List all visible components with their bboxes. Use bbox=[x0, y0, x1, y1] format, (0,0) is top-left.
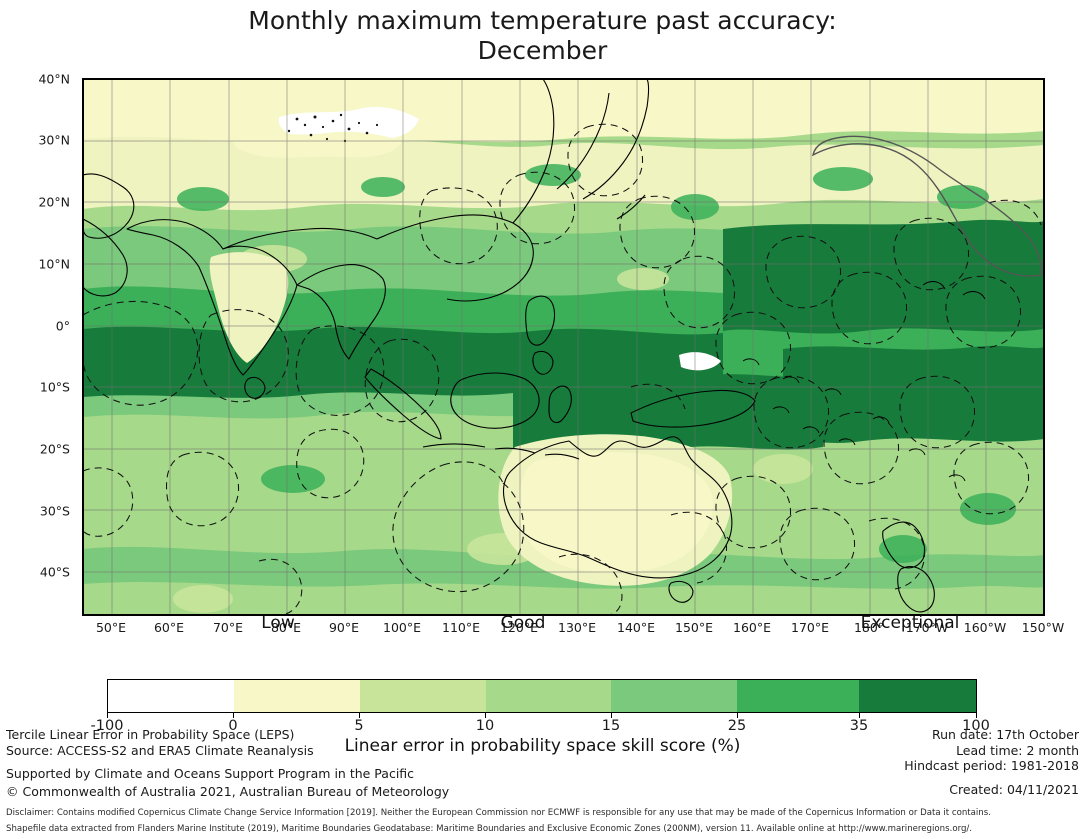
title-line-1: Monthly maximum temperature past accurac… bbox=[0, 6, 1085, 36]
run-date: Run date: 17th October bbox=[904, 727, 1079, 743]
category-label-good: Good bbox=[501, 613, 546, 633]
colorbar-segment-5 bbox=[611, 680, 737, 712]
colorbar-tick: 10 bbox=[476, 718, 494, 734]
disclaimer-copernicus: Disclaimer: Contains modified Copernicus… bbox=[6, 808, 991, 818]
lead-time: Lead time: 2 month bbox=[904, 743, 1079, 759]
colorbar-segment-3 bbox=[360, 680, 486, 712]
y-tick-label: 0° bbox=[56, 319, 70, 334]
colorbar-segment-1 bbox=[108, 680, 234, 712]
copyright-line: © Commonwealth of Australia 2021, Austra… bbox=[6, 783, 449, 801]
x-tick-label: 110°E bbox=[442, 620, 480, 635]
colorbar-tick: 25 bbox=[728, 718, 746, 734]
skill-score-map[interactable] bbox=[82, 78, 1045, 616]
category-label-exceptional: Exceptional bbox=[861, 613, 960, 633]
run-metadata-block: Run date: 17th October Lead time: 2 mont… bbox=[904, 727, 1079, 774]
disclaimer-shapefile: Shapefile data extracted from Flanders M… bbox=[6, 824, 972, 834]
y-tick-label: 20°N bbox=[38, 195, 70, 210]
source-line-1: Tercile Linear Error in Probability Spac… bbox=[6, 727, 314, 743]
y-tick-label: 10°N bbox=[38, 257, 70, 272]
x-tick-label: 50°E bbox=[96, 620, 126, 635]
title-line-2: December bbox=[0, 36, 1085, 66]
colorbar-segment-2 bbox=[234, 680, 360, 712]
colorbar-segment-4 bbox=[486, 680, 612, 712]
colorbar-tick: 35 bbox=[850, 718, 868, 734]
created-date: Created: 04/11/2021 bbox=[949, 782, 1079, 797]
colorbar-tick: 5 bbox=[354, 718, 363, 734]
x-tick-label: 130°E bbox=[558, 620, 596, 635]
page-title: Monthly maximum temperature past accurac… bbox=[0, 6, 1085, 66]
y-tick-label: 10°S bbox=[40, 380, 70, 395]
x-tick-label: 170°E bbox=[791, 620, 829, 635]
y-tick-label: 40°N bbox=[38, 72, 70, 87]
x-tick-label: 70°E bbox=[213, 620, 243, 635]
y-tick-label: 20°S bbox=[40, 442, 70, 457]
x-tick-label: 60°E bbox=[154, 620, 184, 635]
colorbar-segment-7 bbox=[859, 680, 976, 712]
map-canvas bbox=[83, 79, 1044, 615]
source-block: Tercile Linear Error in Probability Spac… bbox=[6, 727, 314, 758]
colorbar-segment-6 bbox=[737, 680, 859, 712]
colorbar-tick: 15 bbox=[602, 718, 620, 734]
x-tick-label: 160°W bbox=[964, 620, 1006, 635]
latitude-axis: 40°N 30°N 20°N 10°N 0° 10°S 20°S 30°S 40… bbox=[16, 78, 76, 616]
x-tick-label: 90°E bbox=[329, 620, 359, 635]
supported-by-line: Supported by Climate and Oceans Support … bbox=[6, 765, 449, 783]
hindcast-period: Hindcast period: 1981-2018 bbox=[904, 758, 1079, 774]
x-tick-label: 100°E bbox=[383, 620, 421, 635]
y-tick-label: 30°S bbox=[40, 504, 70, 519]
y-tick-label: 40°S bbox=[40, 565, 70, 580]
y-tick-label: 30°N bbox=[38, 133, 70, 148]
x-tick-label: 150°E bbox=[675, 620, 713, 635]
category-label-low: Low bbox=[261, 613, 294, 633]
x-tick-label: 160°E bbox=[733, 620, 771, 635]
attribution-block: Supported by Climate and Oceans Support … bbox=[6, 765, 449, 801]
source-line-2: Source: ACCESS-S2 and ERA5 Climate Reana… bbox=[6, 743, 314, 759]
x-tick-label: 150°W bbox=[1022, 620, 1064, 635]
colorbar bbox=[107, 679, 977, 713]
x-tick-label: 140°E bbox=[617, 620, 655, 635]
